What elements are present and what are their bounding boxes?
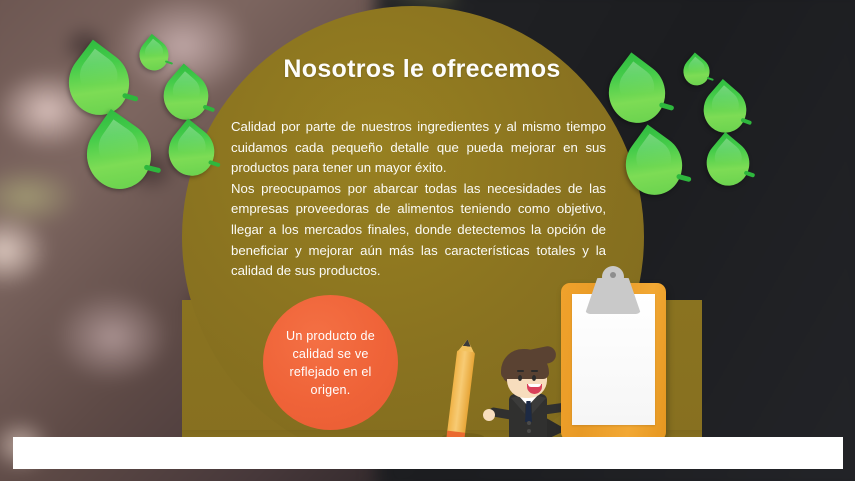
eyebrow-right — [531, 370, 538, 372]
clipboard-illustration — [561, 283, 666, 441]
leaf-right-3-icon — [702, 87, 749, 134]
leaf-right-5-icon — [704, 139, 752, 187]
paragraph-2: Nos preocupamos por abarcar todas las ne… — [231, 179, 606, 282]
slide-canvas: Nosotros le ofrecemos Calidad por parte … — [0, 0, 855, 481]
leaf-left-4-icon — [81, 117, 157, 193]
leaf-right-2-icon — [682, 57, 711, 86]
paragraph-1: Calidad por parte de nuestros ingredient… — [231, 117, 606, 179]
businessman-illustration — [485, 349, 571, 441]
clipboard-clip-hole — [610, 272, 616, 278]
leaf-right-1-icon — [604, 60, 670, 126]
leaf-left-2-icon — [138, 39, 171, 72]
hair-quiff — [530, 345, 557, 367]
eyebrow-left — [517, 370, 524, 372]
suit-button-2 — [527, 429, 531, 433]
leaf-left-3-icon — [161, 71, 210, 120]
suit-button-1 — [527, 421, 531, 425]
eye-left — [518, 375, 522, 381]
footer-bar — [13, 437, 843, 469]
highlight-badge: Un producto de calidad se ve reflejado e… — [263, 295, 398, 430]
leaf-left-1-icon — [64, 48, 134, 118]
body-copy: Calidad por parte de nuestros ingredient… — [231, 117, 606, 282]
hand-left — [483, 409, 495, 421]
page-title: Nosotros le ofrecemos — [232, 55, 612, 84]
eye-right — [532, 375, 536, 381]
leaf-right-4-icon — [621, 132, 687, 198]
leaf-left-5-icon — [166, 126, 218, 178]
highlight-badge-text: Un producto de calidad se ve reflejado e… — [263, 327, 398, 399]
